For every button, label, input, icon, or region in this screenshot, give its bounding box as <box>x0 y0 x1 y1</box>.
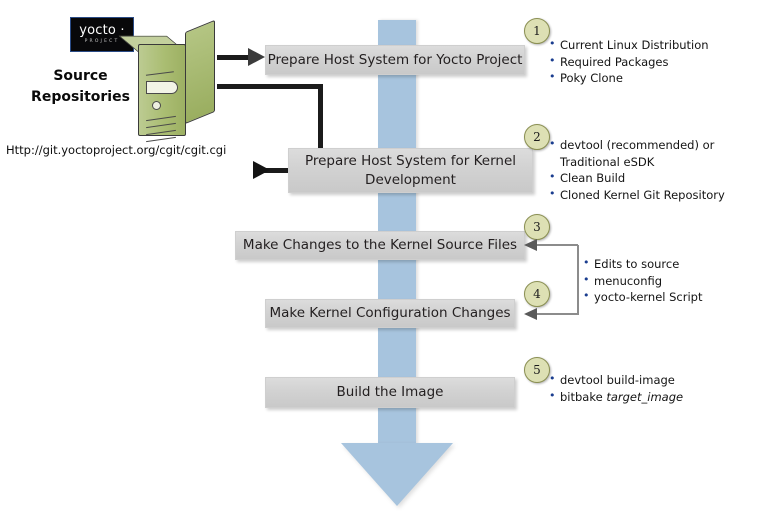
source-repositories-url: Http://git.yoctoproject.org/cgit/cgit.cg… <box>6 143 226 157</box>
step-box-4[interactable]: Make Kernel Configuration Changes <box>265 299 515 328</box>
annotation-bullet: Cloned Kernel Git Repository <box>549 187 725 204</box>
server-front-face <box>138 44 186 136</box>
connector-arrowhead-step1 <box>248 48 265 66</box>
connector-server-to-step1 <box>217 55 251 60</box>
annotation-bullet: Current Linux Distribution <box>549 37 709 54</box>
annotation-step-5: devtool build-image bitbake target_image <box>549 372 683 405</box>
bracket-branch-step-3 <box>535 244 578 246</box>
annotation-bullet: Required Packages <box>549 54 709 71</box>
yocto-project-logo: yocto · PROJECT <box>70 17 134 52</box>
annotation-step-2: devtool (recommended) or Traditional eSD… <box>549 137 725 203</box>
step-box-3[interactable]: Make Changes to the Kernel Source Files <box>235 231 525 260</box>
source-repositories-label: Source Repositories <box>18 66 143 108</box>
bracket-arrowhead-step-3 <box>524 239 537 251</box>
server-power-led <box>152 101 161 110</box>
server-grille-line <box>146 123 176 128</box>
step-number-5: 5 <box>524 357 550 383</box>
step-number-4: 4 <box>524 281 550 307</box>
annotation-bullet: devtool build-image <box>549 372 683 389</box>
step-number-1: 1 <box>524 18 550 44</box>
server-grille-line <box>146 130 176 135</box>
step-box-2[interactable]: Prepare Host System for Kernel Developme… <box>288 148 533 193</box>
annotation-target-image-variable: target_image <box>606 390 683 404</box>
annotation-bullet: Poky Clone <box>549 70 709 87</box>
annotation-bullet: Edits to source <box>583 256 703 273</box>
connector-server-to-step2-horizontal <box>217 84 321 89</box>
step-number-3: 3 <box>524 214 550 240</box>
annotation-bitbake-command: bitbake <box>560 390 606 404</box>
annotation-bullet: Clean Build <box>549 170 725 187</box>
bracket-arrowhead-step-4 <box>524 308 537 320</box>
annotation-bullet: yocto-kernel Script <box>583 289 703 306</box>
bracket-vertical-steps-3-4 <box>577 245 579 315</box>
server-vent <box>146 71 174 77</box>
step-box-1[interactable]: Prepare Host System for Yocto Project <box>265 45 525 75</box>
flow-arrow-head <box>341 443 453 506</box>
connector-arrowhead-step2 <box>253 161 270 179</box>
server-tower-icon <box>138 26 220 138</box>
step-number-2: 2 <box>524 124 550 150</box>
yocto-logo-subtext: PROJECT <box>85 38 120 45</box>
diagram-canvas: yocto · PROJECT Source Repositories Http… <box>0 0 769 517</box>
annotation-bullet: bitbake target_image <box>549 389 683 406</box>
annotation-bullet: menuconfig <box>583 273 703 290</box>
server-side-face <box>185 20 215 124</box>
annotation-steps-3-and-4: Edits to source menuconfig yocto-kernel … <box>583 256 703 306</box>
server-grille-line <box>146 116 176 121</box>
bracket-branch-step-4 <box>535 313 578 315</box>
server-drive-slot <box>146 81 178 94</box>
server-grille-line <box>146 137 176 142</box>
step-box-5[interactable]: Build the Image <box>265 377 515 408</box>
annotation-bullet: devtool (recommended) or Traditional eSD… <box>549 137 720 170</box>
annotation-step-1: Current Linux Distribution Required Pack… <box>549 37 709 87</box>
